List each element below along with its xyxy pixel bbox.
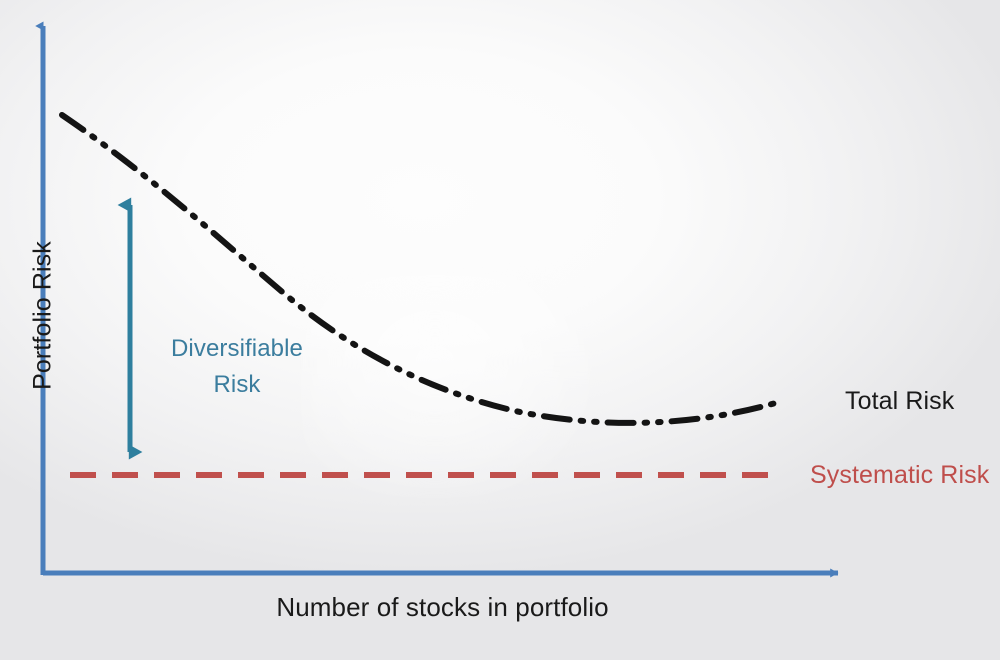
- chart-canvas: Portfolio Risk Number of stocks in portf…: [0, 0, 1000, 660]
- total-risk-label: Total Risk: [845, 387, 954, 416]
- risk-diversification-chart: [0, 0, 1000, 660]
- diversifiable-risk-label-line1: Diversifiable: [171, 335, 303, 362]
- x-axis-label: Number of stocks in portfolio: [0, 592, 885, 623]
- diversifiable-risk-label-line2: Risk: [213, 371, 260, 398]
- systematic-risk-label: Systematic Risk: [810, 461, 989, 490]
- diversifiable-risk-label: Diversifiable Risk: [138, 331, 336, 403]
- y-axis-label: Portfolio Risk: [29, 211, 58, 421]
